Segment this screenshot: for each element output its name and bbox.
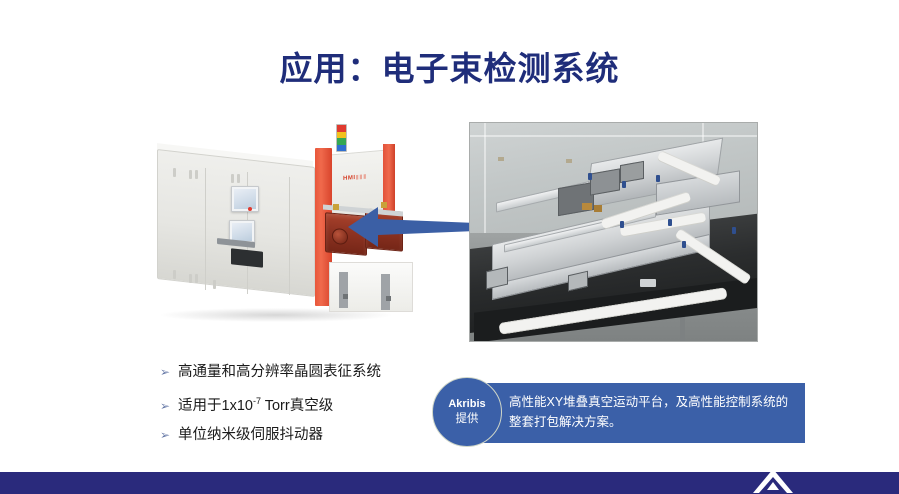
enclosure-clip (566, 159, 572, 163)
cabinet-vent (237, 174, 240, 183)
slide-canvas: 应用：电子束检测系统 (0, 0, 899, 494)
stage-connector (582, 203, 592, 210)
supplier-badge-subtitle: 提供 (456, 412, 479, 427)
cable-tie (656, 175, 660, 182)
list-item-label: 高通量和高分辨率晶圆表征系统 (178, 362, 381, 382)
supplier-badge-brand: Akribis (448, 397, 485, 412)
cable-tie (640, 279, 656, 287)
machine-touchscreen-upper[interactable] (231, 186, 259, 212)
cabinet-vent (173, 270, 176, 279)
cable-tie (620, 221, 624, 228)
cable-tie (588, 173, 592, 180)
cable-tie (668, 219, 672, 226)
supplier-callout-text: 高性能XY堆叠真空运动平台，及高性能控制系统的整套打包解决方案。 (509, 392, 797, 432)
stage-connector (594, 205, 602, 212)
supplier-badge: Akribis 提供 (432, 377, 502, 447)
module-clamp (333, 204, 339, 210)
vacuum-value-base: 适用于1x10 (178, 398, 253, 414)
machine-lower-panel (231, 248, 263, 267)
cabinet-vent (195, 274, 198, 283)
emergency-stop-button[interactable] (248, 207, 252, 211)
cabinet-vent (231, 174, 234, 183)
stack-light-blue (337, 145, 346, 152)
cabinet-vent (189, 170, 192, 179)
touchscreen-upper-display (234, 189, 256, 209)
machine-base-detail (386, 296, 391, 301)
cabinet-vent (173, 168, 176, 177)
cable-tie (732, 227, 736, 234)
cable-tie (682, 241, 686, 248)
list-item: ➢ 适用于1x10-7 Torr真空级 (160, 391, 450, 416)
enclosure-clip (498, 157, 504, 161)
bullet-arrow-icon: ➢ (160, 425, 178, 445)
bullet-arrow-icon: ➢ (160, 362, 178, 382)
list-item-label: 适用于1x10-7 Torr真空级 (178, 391, 333, 416)
cabinet-seam (289, 177, 290, 295)
cable-tie (622, 181, 626, 188)
triangle-logo (752, 466, 794, 494)
cabinet-vent (213, 280, 216, 289)
cabinet-seam (205, 168, 206, 290)
feature-bullet-list: ➢ 高通量和高分辨率晶圆表征系统 ➢ 适用于1x10-7 Torr真空级 ➢ 单… (160, 362, 450, 454)
stack-light-tower (336, 124, 347, 152)
bullet-arrow-icon: ➢ (160, 396, 178, 416)
machine-base-detail (343, 294, 348, 299)
list-item: ➢ 高通量和高分辨率晶圆表征系统 (160, 362, 450, 382)
xy-vacuum-stage-photo (469, 122, 758, 342)
cabinet-vent (189, 274, 192, 283)
machine-base-leg (381, 274, 390, 310)
list-item-label: 单位纳米级伺服抖动器 (178, 425, 323, 445)
machine-base-leg (339, 272, 348, 308)
cabinet-vent (195, 170, 198, 179)
blue-left-arrow (348, 201, 476, 253)
list-item: ➢ 单位纳米级伺服抖动器 (160, 425, 450, 445)
enclosure-panel-edge (470, 135, 757, 137)
vacuum-value-exponent: -7 (253, 396, 261, 406)
enclosure-panel-edge (484, 123, 486, 241)
touchscreen-lower-display (232, 223, 252, 241)
page-title: 应用：电子束检测系统 (0, 42, 899, 90)
vacuum-value-unit: Torr真空级 (261, 398, 333, 414)
module-lens (332, 228, 348, 245)
